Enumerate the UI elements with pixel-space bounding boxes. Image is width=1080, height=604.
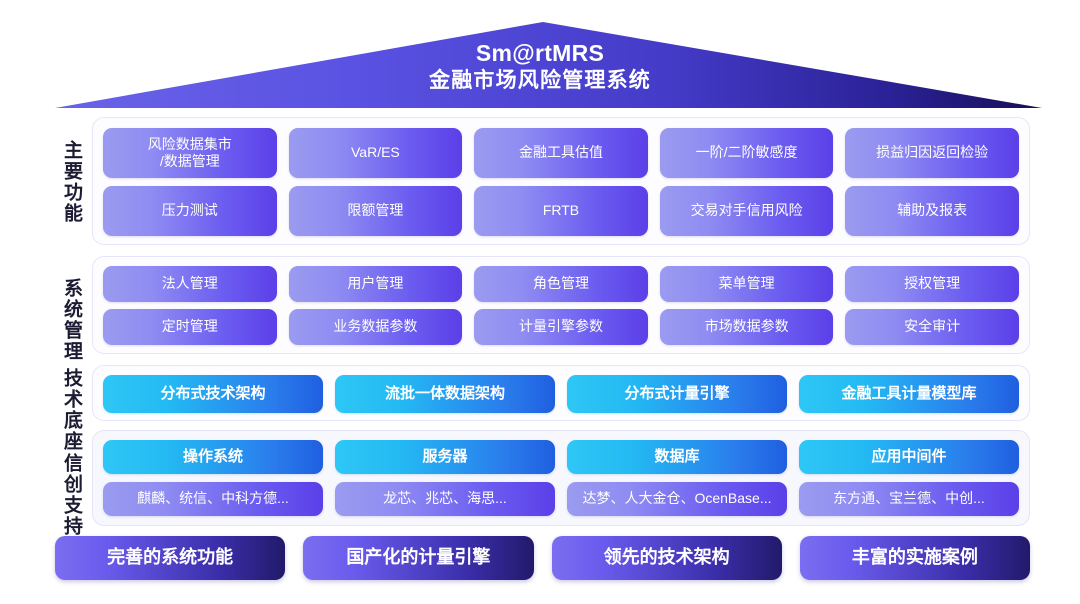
infographic-root: Sm@rtMRS 金融市场风险管理系统 主要功能 风险数据集市 /数据管理 Va… xyxy=(0,0,1080,604)
cell-instrument-model-library[interactable]: 金融工具计量模型库 xyxy=(799,375,1019,413)
roof-shape-icon xyxy=(0,0,1080,112)
banner-leading-architecture[interactable]: 领先的技术架构 xyxy=(552,536,782,580)
cell-os-vendors[interactable]: 麒麟、统信、中科方德... xyxy=(103,482,323,516)
cell-stress-test[interactable]: 压力测试 xyxy=(103,186,277,236)
cell-distributed-calc-engine[interactable]: 分布式计量引擎 xyxy=(567,375,787,413)
cell-scheduler-management[interactable]: 定时管理 xyxy=(103,309,277,345)
cell-distributed-architecture[interactable]: 分布式技术架构 xyxy=(103,375,323,413)
cell-pnl-attribution[interactable]: 损益归因返回检验 xyxy=(845,128,1019,178)
cell-business-data-params[interactable]: 业务数据参数 xyxy=(289,309,463,345)
section-panel-main-functions: 风险数据集市 /数据管理 VaR/ES 金融工具估值 一阶/二阶敏感度 损益归因… xyxy=(92,117,1030,245)
row-innovation-headers: 操作系统 服务器 数据库 应用中间件 xyxy=(103,440,1019,474)
bottom-banner-bar: 完善的系统功能 国产化的计量引擎 领先的技术架构 丰富的实施案例 xyxy=(55,536,1030,580)
row-system-management-2: 定时管理 业务数据参数 计量引擎参数 市场数据参数 安全审计 xyxy=(103,309,1019,345)
cell-database[interactable]: 数据库 xyxy=(567,440,787,474)
cell-market-data-params[interactable]: 市场数据参数 xyxy=(660,309,834,345)
section-panel-innovation-support: 操作系统 服务器 数据库 应用中间件 麒麟、统信、中科方德... 龙芯、兆芯、海… xyxy=(92,430,1030,526)
roof-banner: Sm@rtMRS 金融市场风险管理系统 xyxy=(0,0,1080,112)
cell-var-es[interactable]: VaR/ES xyxy=(289,128,463,178)
cell-calc-engine-params[interactable]: 计量引擎参数 xyxy=(474,309,648,345)
cell-operating-system[interactable]: 操作系统 xyxy=(103,440,323,474)
cell-counterparty-credit-risk[interactable]: 交易对手信用风险 xyxy=(660,186,834,236)
section-panel-system-management: 法人管理 用户管理 角色管理 菜单管理 授权管理 定时管理 业务数据参数 计量引… xyxy=(92,256,1030,354)
row-system-management-1: 法人管理 用户管理 角色管理 菜单管理 授权管理 xyxy=(103,266,1019,302)
cell-legal-entity-management[interactable]: 法人管理 xyxy=(103,266,277,302)
cell-stream-batch-data-arch[interactable]: 流批一体数据架构 xyxy=(335,375,555,413)
cell-server[interactable]: 服务器 xyxy=(335,440,555,474)
row-main-functions-2: 压力测试 限额管理 FRTB 交易对手信用风险 辅助及报表 xyxy=(103,186,1019,236)
banner-domestic-engine[interactable]: 国产化的计量引擎 xyxy=(303,536,533,580)
banner-rich-cases[interactable]: 丰富的实施案例 xyxy=(800,536,1030,580)
cell-authorization-management[interactable]: 授权管理 xyxy=(845,266,1019,302)
cell-instrument-valuation[interactable]: 金融工具估值 xyxy=(474,128,648,178)
cell-reports[interactable]: 辅助及报表 xyxy=(845,186,1019,236)
cell-frtb[interactable]: FRTB xyxy=(474,186,648,236)
section-label-main-functions: 主要功能 xyxy=(55,124,81,240)
cell-risk-data-mart[interactable]: 风险数据集市 /数据管理 xyxy=(103,128,277,178)
cell-limit-management[interactable]: 限额管理 xyxy=(289,186,463,236)
cell-server-vendors[interactable]: 龙芯、兆芯、海思... xyxy=(335,482,555,516)
cell-role-management[interactable]: 角色管理 xyxy=(474,266,648,302)
cell-database-vendors[interactable]: 达梦、人大金仓、OcenBase... xyxy=(567,482,787,516)
row-tech-foundation-1: 分布式技术架构 流批一体数据架构 分布式计量引擎 金融工具计量模型库 xyxy=(103,375,1019,413)
row-main-functions-1: 风险数据集市 /数据管理 VaR/ES 金融工具估值 一阶/二阶敏感度 损益归因… xyxy=(103,128,1019,178)
cell-menu-management[interactable]: 菜单管理 xyxy=(660,266,834,302)
row-innovation-vendors: 麒麟、统信、中科方德... 龙芯、兆芯、海思... 达梦、人大金仓、OcenBa… xyxy=(103,482,1019,516)
cell-middleware[interactable]: 应用中间件 xyxy=(799,440,1019,474)
cell-middleware-vendors[interactable]: 东方通、宝兰德、中创... xyxy=(799,482,1019,516)
cell-security-audit[interactable]: 安全审计 xyxy=(845,309,1019,345)
section-panel-tech-foundation: 分布式技术架构 流批一体数据架构 分布式计量引擎 金融工具计量模型库 xyxy=(92,365,1030,421)
cell-user-management[interactable]: 用户管理 xyxy=(289,266,463,302)
cell-sensitivity[interactable]: 一阶/二阶敏感度 xyxy=(660,128,834,178)
banner-complete-functions[interactable]: 完善的系统功能 xyxy=(55,536,285,580)
